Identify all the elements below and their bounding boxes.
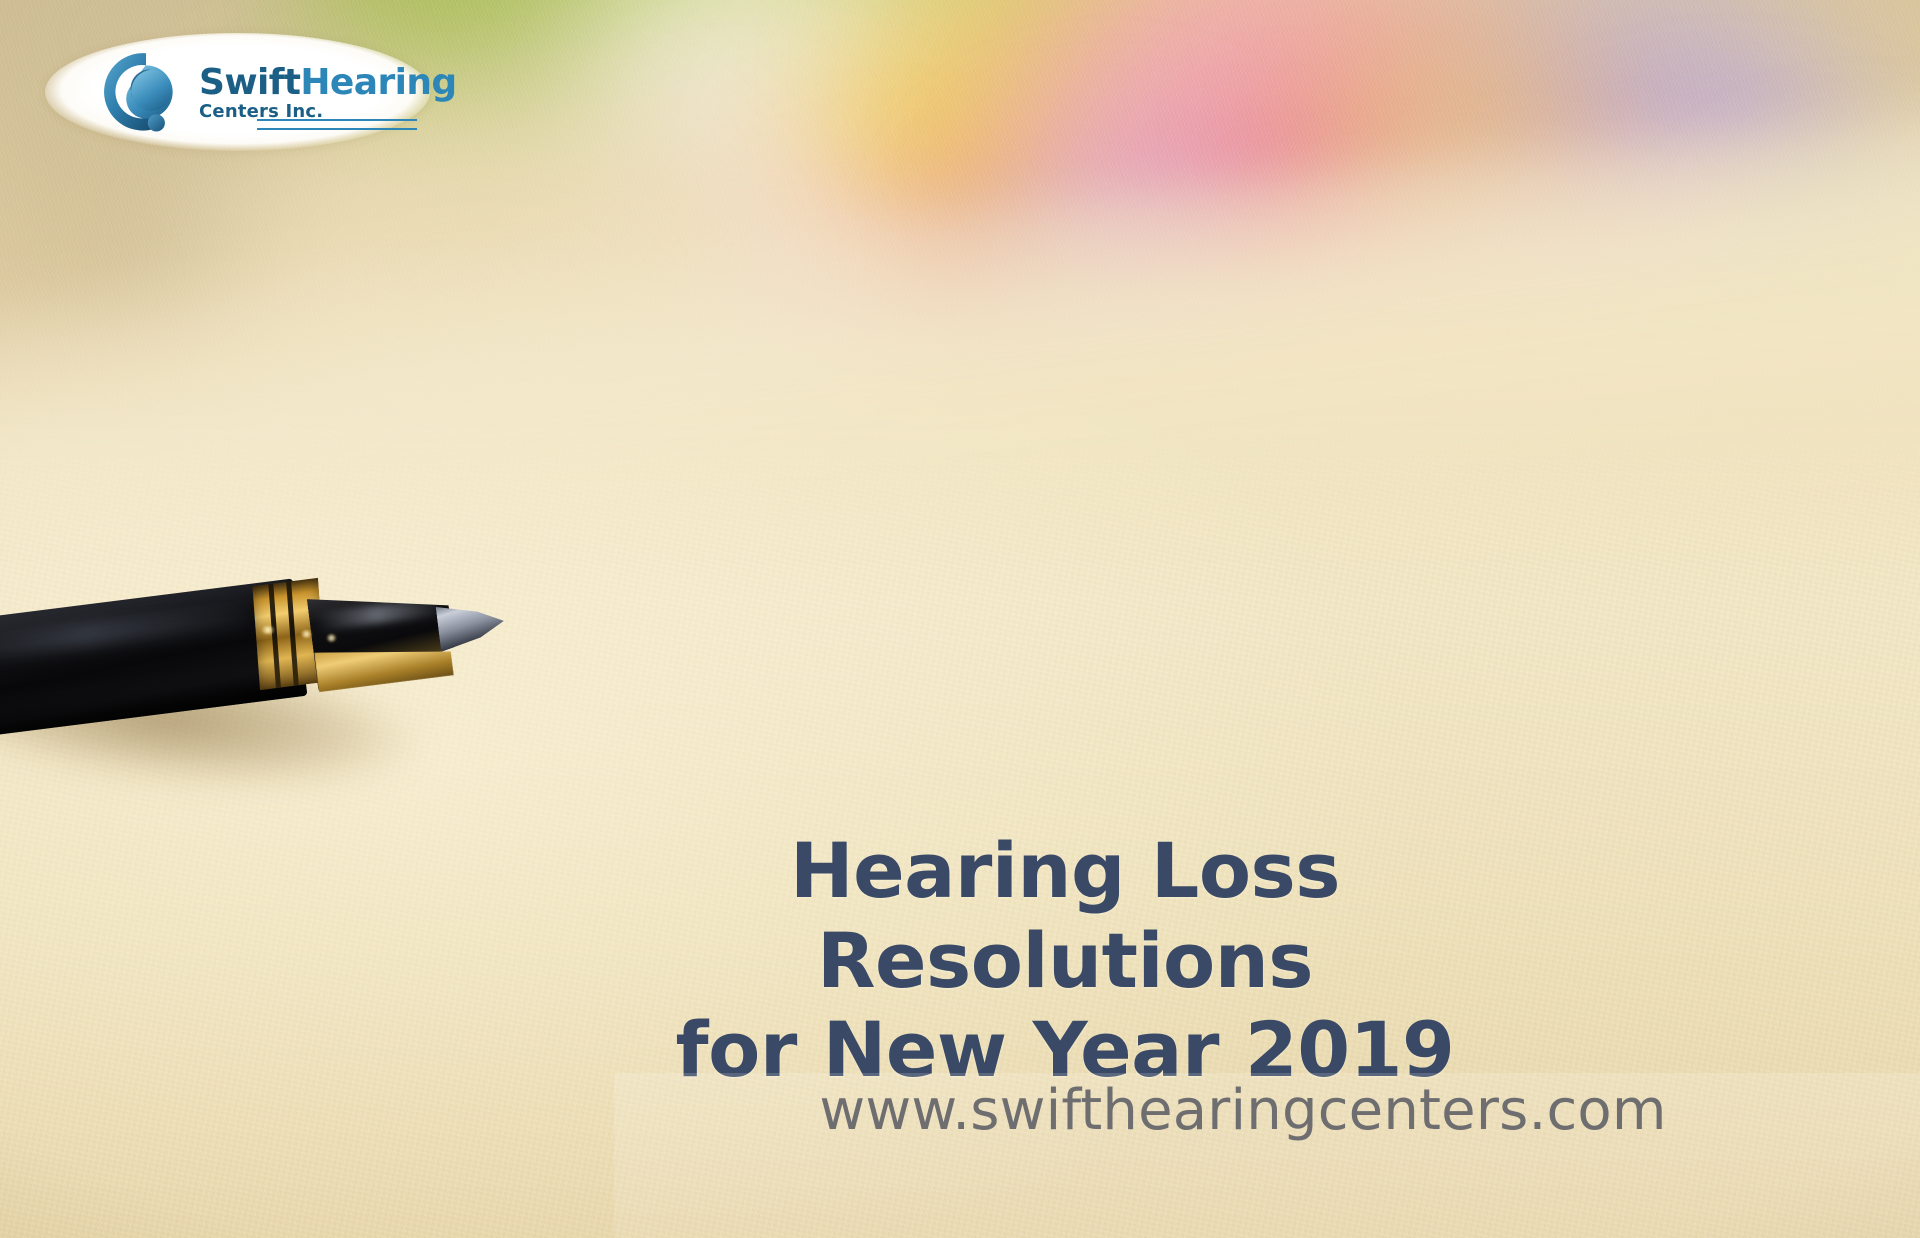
logo-underline-rule — [257, 119, 417, 130]
website-url[interactable]: www.swifthearingcenters.com — [614, 1078, 1872, 1143]
banner-canvas: SwiftHearing Centers Inc. Hearing Loss R… — [0, 0, 1920, 1238]
silver-pen-tip — [435, 596, 506, 652]
logo-wordmark: SwiftHearing Centers Inc. — [199, 63, 457, 121]
ear-spiral-icon — [103, 49, 189, 135]
page-title-line1: Hearing Loss Resolutions — [560, 826, 1570, 1005]
pen-specular-highlight — [326, 634, 337, 642]
pen-specular-highlight — [300, 630, 313, 638]
black-rollerball-pen — [0, 560, 640, 820]
logo-brand-part2: Hearing — [300, 62, 456, 103]
logo-brand-part1: Swift — [199, 62, 300, 103]
page-title: Hearing Loss Resolutions for New Year 20… — [560, 826, 1570, 1095]
logo-badge[interactable]: SwiftHearing Centers Inc. — [45, 33, 430, 151]
pen-specular-highlight — [260, 626, 276, 634]
